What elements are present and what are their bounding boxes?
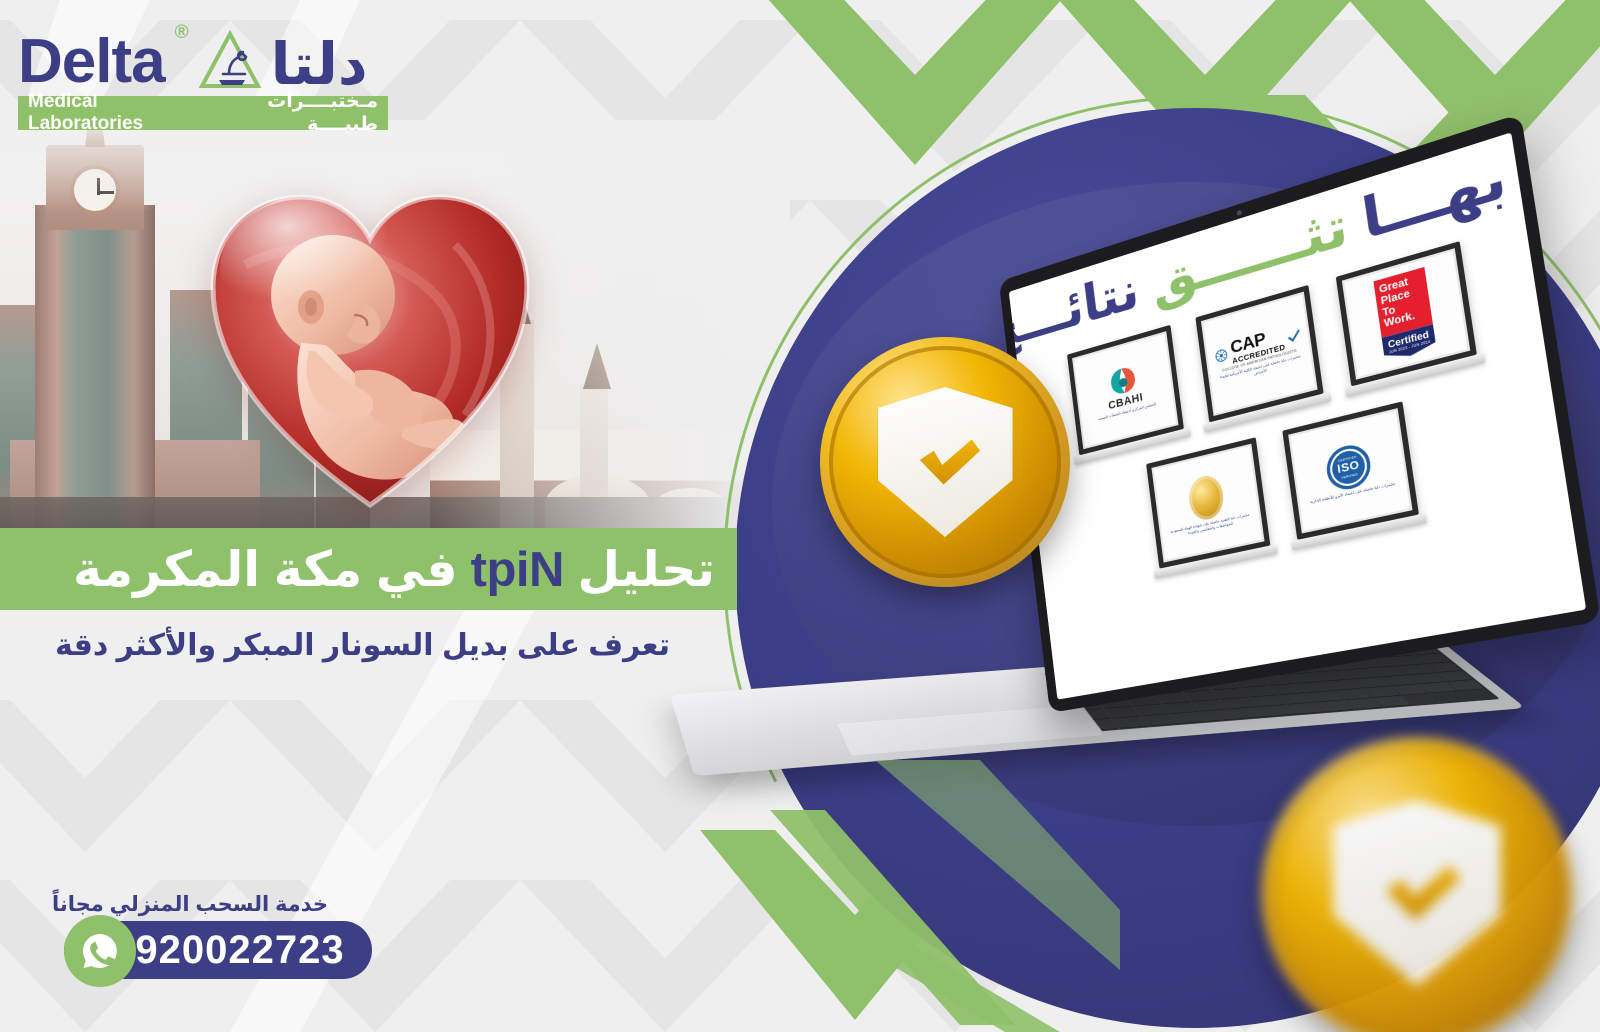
certificate-great-place-to-work: Great Place To Work. Certified JUN 2023 … [1336,241,1479,396]
certificate-iso: CERTIFIED ISO VERIFIED مختبرات دلتا حاصل… [1282,401,1420,549]
logo-tagline-band: Medical Laboratories مـختبــــرات طبيـــ… [18,96,388,130]
certificate-gold-medal: مختبرات دلتا الطبية حاصلة على شهادة الهي… [1146,437,1272,577]
gold-medal-icon [1187,472,1226,523]
contact-block: خدمة السحب المنزلي مجاناً 920022723 [22,892,372,979]
headline-prefix: تحليل [578,543,715,597]
phone-cta-button[interactable]: 920022723 [64,921,372,979]
check-mark-icon [910,437,980,488]
logo-name-en: Delta [18,33,165,92]
brand-logo: Delta ® دلتا Medical Laboratories مـختبـ… [18,18,388,130]
great-place-to-work-icon: Great Place To Work. Certified JUN 2023 … [1373,267,1436,362]
registered-trademark-icon: ® [175,22,189,44]
home-collection-note: خدمة السحب المنزلي مجاناً [22,892,372,917]
logo-tagline-ar: مـختبــــرات طبيــــة [204,90,378,136]
page-title: تحليل Nipt في مكة المكرمة [73,541,715,598]
certificate-cbahi: CBAHI المجلس المركزي لاعتماد المنشآت الص… [1067,325,1185,464]
certificate-cap: CAP ACCREDITED COLLEGE OF AMERICAN PATHO… [1195,285,1325,432]
headline-band: تحليل Nipt في مكة المكرمة [0,528,737,610]
phone-number: 920022723 [135,928,344,973]
cap-accredited-icon [1214,347,1229,364]
gold-coin-shield-check-icon-secondary [1262,738,1572,1032]
webcam-icon [1236,210,1242,217]
headline-accent: Nipt [471,543,564,597]
check-mark-icon [1373,861,1460,924]
iso-certified-icon: CERTIFIED ISO VERIFIED [1324,441,1373,494]
page-subtitle: تعرف على بديل السونار المبكر والأكثر دقة [0,628,690,663]
logo-name-ar: دلتا [271,37,368,92]
whatsapp-icon[interactable] [64,915,136,987]
fetus-in-heart-illustration [205,175,535,515]
headline-suffix: في مكة المكرمة [73,543,458,597]
microscope-icon [199,30,261,92]
laptop-trackpad [835,704,1105,756]
logo-tagline-en: Medical Laboratories [28,91,204,135]
gold-coin-shield-check-icon [820,337,1070,587]
check-mark-icon [1286,328,1300,344]
promotional-banner: بهـــا تثــــــق نتائـــج [0,0,1600,1032]
